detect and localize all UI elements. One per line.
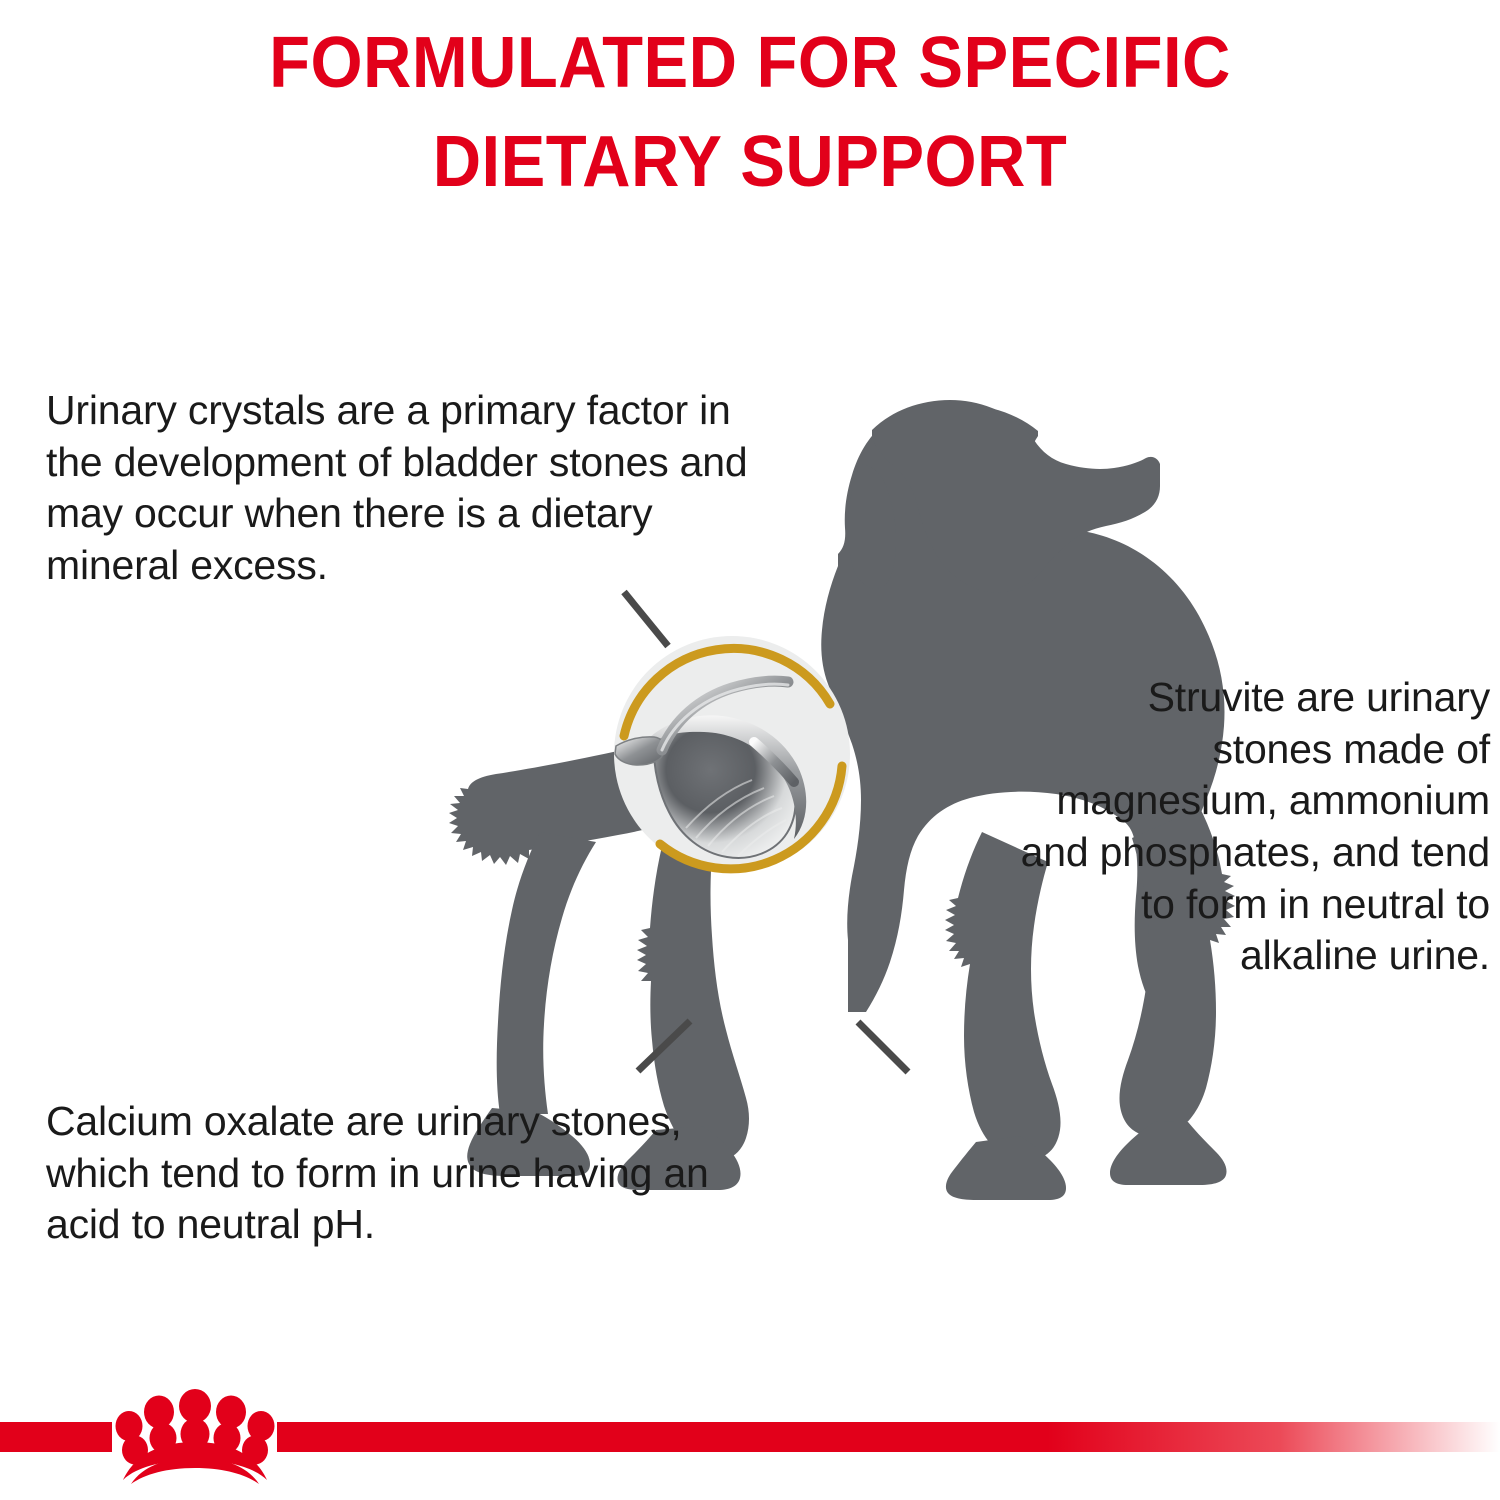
footer-bar-right: [277, 1422, 1500, 1452]
royal-canin-crown-logo: [105, 1372, 285, 1484]
callout-text-struvite: Struvite are urinary stones made of magn…: [1020, 672, 1490, 982]
product-infographic: FORMULATED FOR SPECIFIC DIETARY SUPPORT: [0, 0, 1500, 1500]
footer-brand-bar: [0, 1400, 1500, 1500]
footer-bar-left: [0, 1422, 112, 1452]
callout-text-calcium-oxalate: Calcium oxalate are urinary stones, whic…: [46, 1096, 746, 1251]
callout-text-urinary-crystals: Urinary crystals are a primary factor in…: [46, 385, 776, 592]
bladder-callout: [596, 618, 868, 890]
